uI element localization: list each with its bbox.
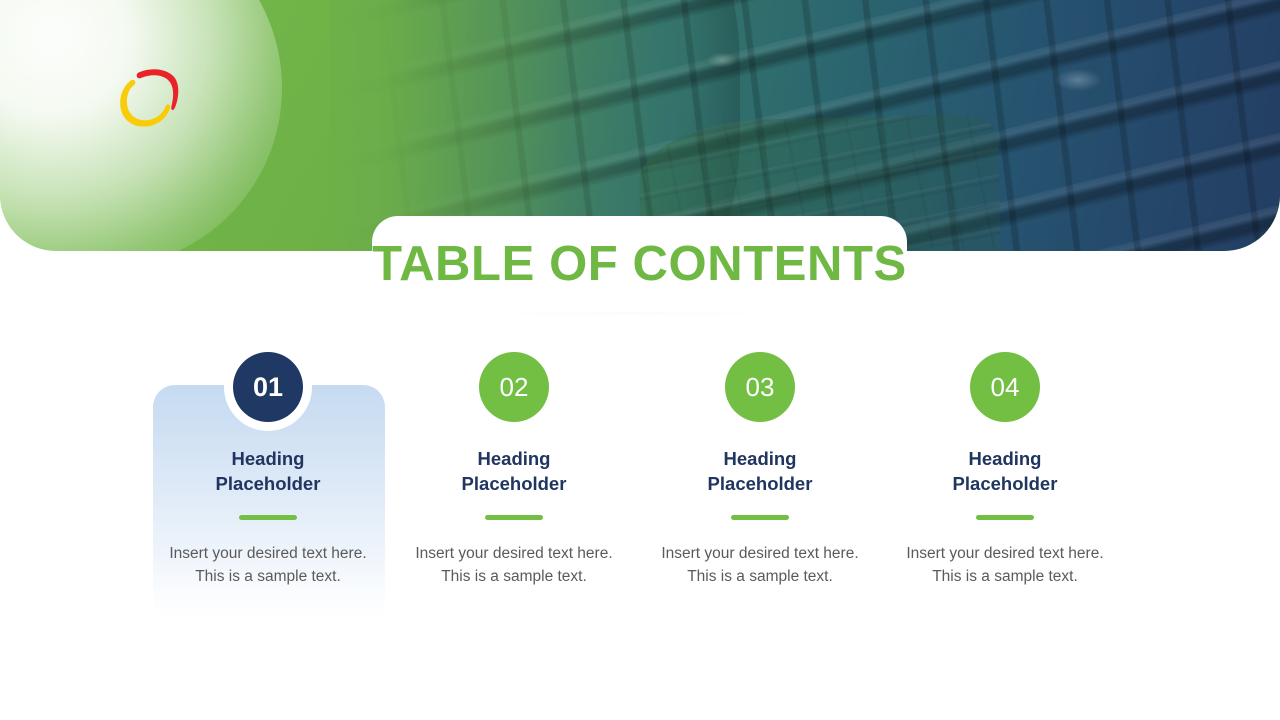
toc-item-01[interactable]: 01 Heading Placeholder Insert your desir… [145, 352, 391, 628]
title-card: TABLE OF CONTENTS [372, 216, 907, 312]
toc-item-04-heading: Heading Placeholder [882, 447, 1128, 497]
toc-item-03-heading: Heading Placeholder [637, 447, 883, 497]
toc-item-01-heading: Heading Placeholder [145, 447, 391, 497]
toc-item-04-divider [976, 515, 1034, 520]
toc-item-03-heading-line1: Heading [724, 448, 797, 469]
toc-item-04-body: Insert your desired text here. This is a… [890, 542, 1120, 589]
toc-item-03[interactable]: 03 Heading Placeholder Insert your desir… [637, 352, 883, 628]
toc-item-01-number-badge[interactable]: 01 [233, 352, 303, 422]
banner-building-photo [330, 0, 1280, 251]
toc-item-03-divider [731, 515, 789, 520]
toc-item-02-number-badge[interactable]: 02 [479, 352, 549, 422]
toc-item-01-heading-line2: Placeholder [216, 473, 321, 494]
toc-item-03-heading-line2: Placeholder [708, 473, 813, 494]
toc-item-02-heading-line2: Placeholder [462, 473, 567, 494]
toc-item-04[interactable]: 04 Heading Placeholder Insert your desir… [882, 352, 1128, 628]
toc-item-02-body: Insert your desired text here. This is a… [399, 542, 629, 589]
toc-item-03-body: Insert your desired text here. This is a… [645, 542, 875, 589]
toc-item-04-number-badge[interactable]: 04 [970, 352, 1040, 422]
toc-item-02[interactable]: 02 Heading Placeholder Insert your desir… [391, 352, 637, 628]
toc-item-01-divider [239, 515, 297, 520]
toc-item-04-heading-line2: Placeholder [953, 473, 1058, 494]
toc-items-row: 01 Heading Placeholder Insert your desir… [0, 352, 1280, 652]
page-title: TABLE OF CONTENTS [372, 240, 907, 289]
toc-item-02-heading-line1: Heading [478, 448, 551, 469]
header-banner [0, 0, 1280, 251]
photo-left-fade [330, 0, 1280, 251]
toc-item-02-heading: Heading Placeholder [391, 447, 637, 497]
toc-item-01-heading-line1: Heading [232, 448, 305, 469]
brand-logo-icon [112, 58, 188, 134]
slide-canvas: TABLE OF CONTENTS 01 Heading Placeholder… [0, 0, 1280, 720]
toc-item-01-body: Insert your desired text here. This is a… [153, 542, 383, 589]
toc-item-03-number-badge[interactable]: 03 [725, 352, 795, 422]
toc-item-04-heading-line1: Heading [969, 448, 1042, 469]
toc-item-02-divider [485, 515, 543, 520]
